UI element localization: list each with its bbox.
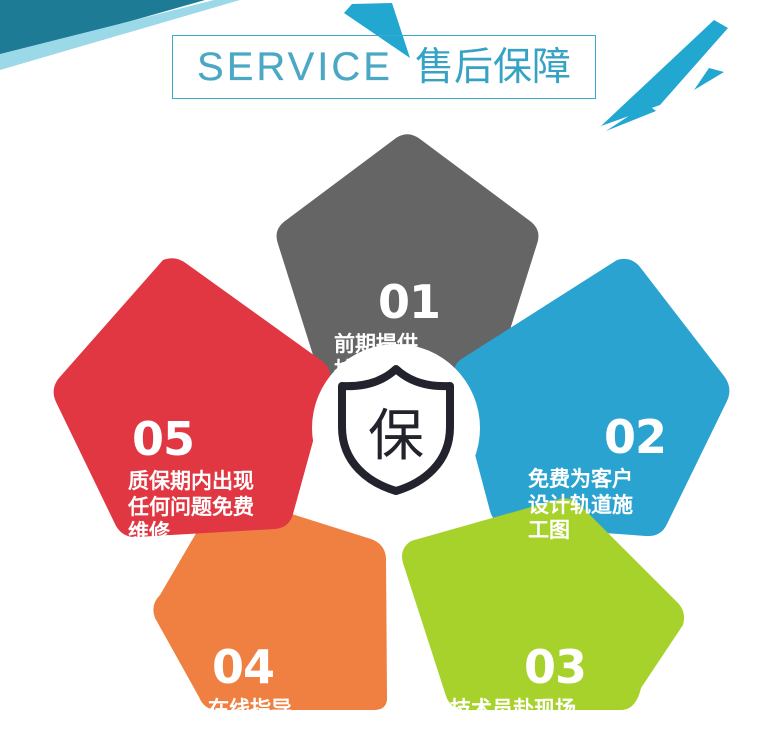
petal-04-label: 04 在线指导 车辆安装调试 <box>208 644 398 744</box>
section-title-box: SERVICE 售后保障 <box>172 35 596 99</box>
petal-04-desc: 在线指导 车辆安装调试 <box>208 697 398 744</box>
petal-03-label: 03 技术员赴现场 安装轨道调 试车辆 <box>450 644 640 744</box>
petal-01-number: 01 <box>378 279 504 325</box>
shield-character: 保 <box>312 344 480 512</box>
section-title-en: SERVICE <box>197 47 393 87</box>
petal-03-desc: 技术员赴现场 安装轨道调 试车辆 <box>450 697 640 744</box>
petal-02-desc: 免费为客户 设计轨道施 工图 <box>528 467 708 544</box>
petal-02-number: 02 <box>604 414 708 460</box>
petal-05-number: 05 <box>132 416 318 462</box>
section-title-cn: 售后保障 <box>415 48 571 87</box>
service-guarantee-infographic: SERVICE 售后保障 <box>0 0 784 744</box>
petal-03-number: 03 <box>524 644 640 690</box>
petal-04-number: 04 <box>212 644 398 690</box>
petal-05-desc: 质保期内出现 任何问题免费 维修 <box>128 469 318 546</box>
triangle-small-right <box>694 68 724 90</box>
center-badge: 保 <box>312 344 480 512</box>
petal-02-label: 02 免费为客户 设计轨道施 工图 <box>528 414 708 544</box>
petal-05-label: 05 质保期内出现 任何问题免费 维修 <box>128 416 318 546</box>
